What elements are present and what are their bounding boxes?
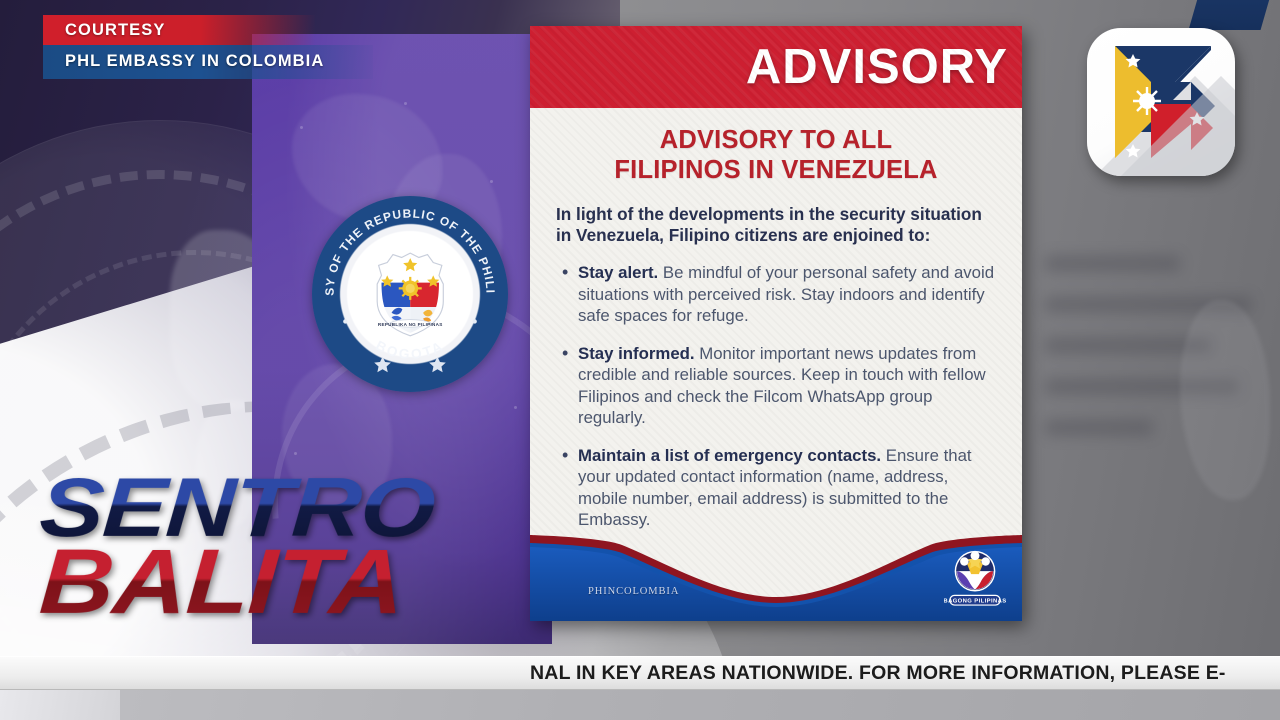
advisory-card: ADVISORY ADVISORY TO ALL FILIPINOS IN VE… — [530, 26, 1022, 621]
bagong-pilipinas-label: BAGONG PILIPINAS — [944, 598, 1006, 604]
broadcast-stage: EMBASSY OF THE REPUBLIC OF THE PHILIPPIN… — [0, 0, 1280, 720]
philippine-coat-of-arms-icon: REPUBLIKA NG PILIPINAS — [373, 251, 447, 337]
courtesy-bottom-bar: PHL EMBASSY IN COLOMBIA — [43, 45, 373, 79]
courtesy-top-bar: COURTESY — [43, 15, 315, 45]
list-item: Maintain a list of emergency contacts. E… — [556, 445, 996, 531]
social-handle: PHINCOLOMBIA — [588, 586, 679, 597]
program-logo: SENTRO BALITA — [40, 470, 380, 625]
advisory-card-body: ADVISORY TO ALL FILIPINOS IN VENEZUELA I… — [530, 108, 1022, 531]
courtesy-lower-third: COURTESY PHL EMBASSY IN COLOMBIA — [43, 15, 403, 79]
advisory-title-line1: ADVISORY TO ALL — [556, 126, 996, 156]
news-ticker[interactable]: NAL IN KEY AREAS NATIONWIDE. FOR MORE IN… — [0, 656, 1280, 690]
bagong-pilipinas-logo-icon: BAGONG PILIPINAS — [944, 545, 1006, 607]
advisory-card-header: ADVISORY — [530, 26, 1022, 108]
bullet-lead: Maintain a list of emergency contacts. — [578, 446, 881, 465]
bullet-lead: Stay informed. — [578, 344, 695, 363]
advisory-header-label: ADVISORY — [746, 39, 1008, 95]
bullet-lead: Stay alert. — [578, 263, 658, 282]
ticker-lower-fill — [0, 690, 1280, 720]
courtesy-label: COURTESY — [65, 21, 165, 39]
seal-inner-text: REPUBLIKA NG PILIPINAS — [378, 322, 443, 327]
network-logo — [1087, 28, 1235, 176]
advisory-intro-paragraph: In light of the developments in the secu… — [556, 204, 996, 247]
advisory-title-line2: FILIPINOS IN VENEZUELA — [556, 156, 996, 186]
courtesy-source-label: PHL EMBASSY IN COLOMBIA — [65, 52, 324, 70]
ticker-text: NAL IN KEY AREAS NATIONWIDE. FOR MORE IN… — [530, 662, 1226, 685]
list-item: Stay informed. Monitor important news up… — [556, 343, 996, 429]
advisory-title: ADVISORY TO ALL FILIPINOS IN VENEZUELA — [556, 126, 996, 186]
advisory-bullet-list: Stay alert. Be mindful of your personal … — [556, 262, 996, 531]
embassy-seal: EMBASSY OF THE REPUBLIC OF THE PHILIPPIN… — [312, 196, 508, 392]
list-item: Stay alert. Be mindful of your personal … — [556, 262, 996, 327]
program-logo-line2: BALITA — [38, 540, 424, 625]
